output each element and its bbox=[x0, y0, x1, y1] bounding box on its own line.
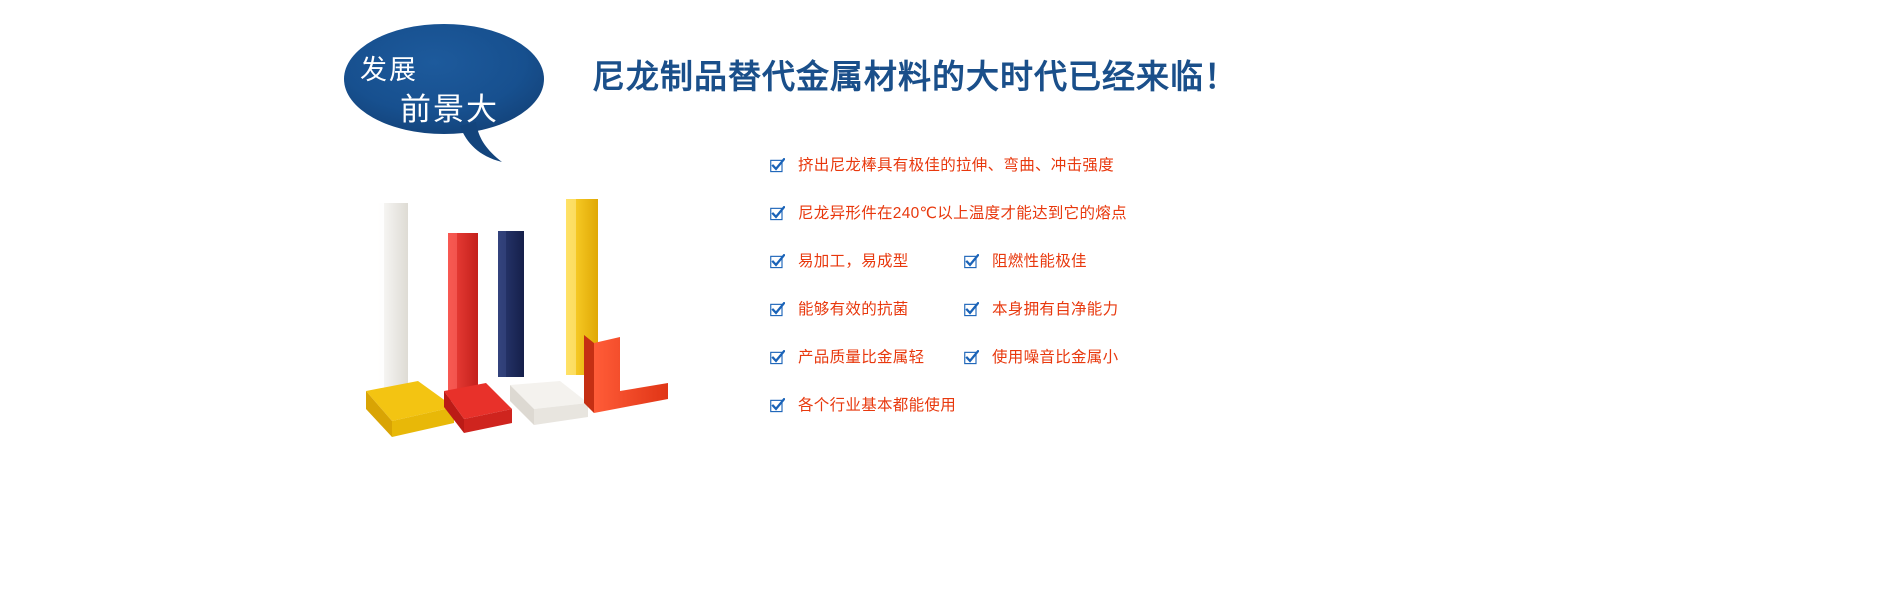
bubble-line-2: 前景大 bbox=[400, 84, 499, 129]
checklist-item-label: 产品质量比金属轻 bbox=[798, 350, 924, 366]
checklist-item-label: 易加工，易成型 bbox=[798, 254, 909, 270]
checkbox-checked-icon bbox=[770, 350, 785, 365]
feature-checklist: 挤出尼龙棒具有极佳的拉伸、弯曲、冲击强度 尼龙异形件在240℃以上温度才能达到它… bbox=[770, 158, 1390, 446]
checklist-item: 产品质量比金属轻 bbox=[770, 350, 924, 366]
checklist-item: 使用噪音比金属小 bbox=[964, 350, 1118, 366]
checklist-row: 易加工，易成型 阻燃性能极佳 bbox=[770, 254, 1390, 302]
checkbox-checked-icon bbox=[770, 398, 785, 413]
checklist-item-label: 能够有效的抗菌 bbox=[798, 302, 909, 318]
promo-banner: 发展 前景大 尼龙制品替代金属材料的大时代已经来临！ bbox=[0, 0, 1902, 592]
checklist-item-label: 各个行业基本都能使用 bbox=[798, 398, 956, 414]
checklist-item: 易加工，易成型 bbox=[770, 254, 909, 270]
checklist-item-label: 使用噪音比金属小 bbox=[992, 350, 1118, 366]
checklist-item: 本身拥有自净能力 bbox=[964, 302, 1118, 318]
checkbox-checked-icon bbox=[964, 254, 979, 269]
checklist-item: 阻燃性能极佳 bbox=[964, 254, 1087, 270]
profile-navy bbox=[498, 231, 524, 377]
profile-red bbox=[448, 233, 478, 401]
bubble-line-1: 发展 bbox=[360, 48, 418, 87]
product-photo bbox=[352, 185, 712, 455]
speech-bubble: 发展 前景大 bbox=[342, 22, 552, 167]
checklist-row: 尼龙异形件在240℃以上温度才能达到它的熔点 bbox=[770, 206, 1390, 254]
profile-red-base bbox=[444, 383, 512, 433]
headline: 尼龙制品替代金属材料的大时代已经来临！ bbox=[592, 50, 1238, 98]
checklist-item-label: 阻燃性能极佳 bbox=[992, 254, 1087, 270]
profile-white-tall bbox=[374, 203, 408, 399]
checklist-item: 尼龙异形件在240℃以上温度才能达到它的熔点 bbox=[770, 206, 1127, 222]
checklist-item: 挤出尼龙棒具有极佳的拉伸、弯曲、冲击强度 bbox=[770, 158, 1114, 174]
checkbox-checked-icon bbox=[964, 302, 979, 317]
speech-bubble-text: 发展 前景大 bbox=[342, 22, 552, 137]
checklist-row: 产品质量比金属轻 使用噪音比金属小 bbox=[770, 350, 1390, 398]
checklist-item-label: 尼龙异形件在240℃以上温度才能达到它的熔点 bbox=[798, 206, 1127, 222]
profile-orange-L bbox=[584, 335, 668, 413]
profile-white-base bbox=[510, 381, 588, 425]
checkbox-checked-icon bbox=[770, 206, 785, 221]
nylon-profiles-illustration bbox=[352, 185, 712, 455]
checklist-item-label: 挤出尼龙棒具有极佳的拉伸、弯曲、冲击强度 bbox=[798, 158, 1114, 174]
checklist-row: 能够有效的抗菌 本身拥有自净能力 bbox=[770, 302, 1390, 350]
checklist-item: 各个行业基本都能使用 bbox=[770, 398, 956, 414]
checklist-row: 挤出尼龙棒具有极佳的拉伸、弯曲、冲击强度 bbox=[770, 158, 1390, 206]
checklist-row: 各个行业基本都能使用 bbox=[770, 398, 1390, 446]
profile-yellow-base bbox=[366, 381, 454, 437]
checkbox-checked-icon bbox=[964, 350, 979, 365]
checkbox-checked-icon bbox=[770, 254, 785, 269]
checklist-item: 能够有效的抗菌 bbox=[770, 302, 909, 318]
checkbox-checked-icon bbox=[770, 158, 785, 173]
checkbox-checked-icon bbox=[770, 302, 785, 317]
checklist-item-label: 本身拥有自净能力 bbox=[992, 302, 1118, 318]
